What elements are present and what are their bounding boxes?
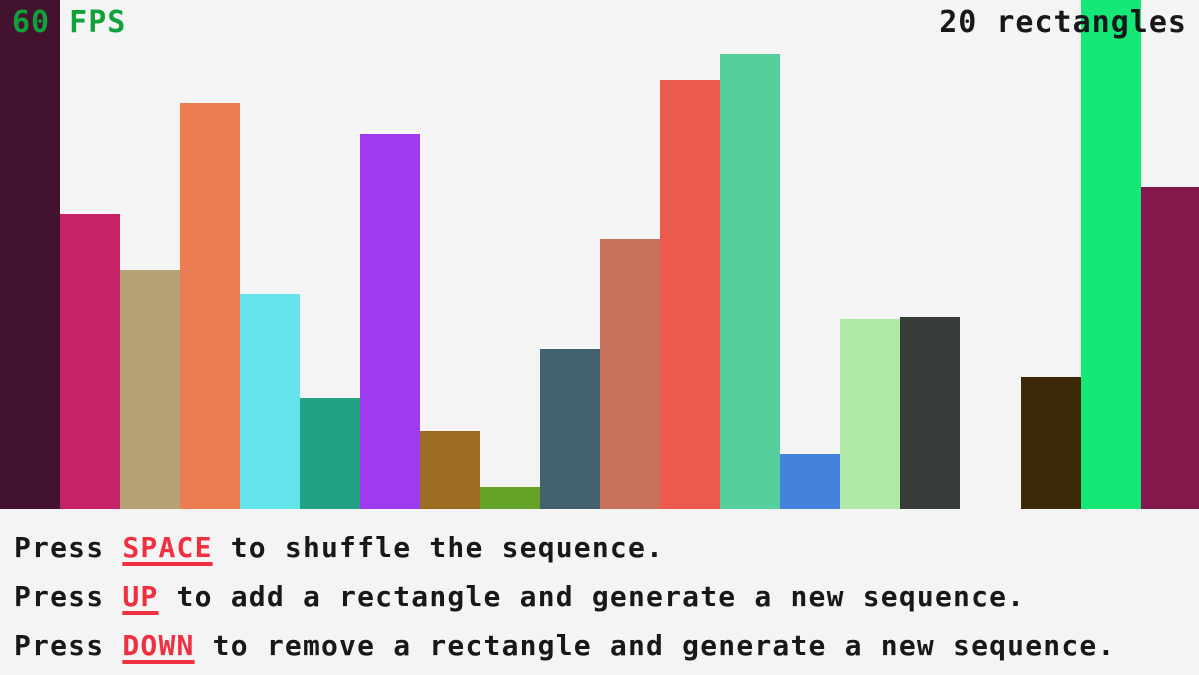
bar-8 [420,431,480,509]
bar-20 [1141,187,1199,509]
bar-17 [960,160,1020,509]
fps-counter: 60 FPS [12,6,126,40]
instruction-prefix: Press [14,580,122,613]
bar-11 [600,239,660,509]
bar-4 [180,103,240,509]
rectangle-count-label: 20 rectangles [939,6,1187,40]
instruction-line-2: Press UP to add a rectangle and generate… [14,572,1199,621]
bar-19 [1081,0,1141,509]
bar-9 [480,487,540,509]
bar-7 [360,134,420,509]
bar-12 [660,80,720,509]
instruction-prefix: Press [14,531,122,564]
bar-6 [300,398,360,509]
instruction-suffix: to remove a rectangle and generate a new… [195,629,1116,662]
key-hint-space[interactable]: SPACE [122,531,212,564]
bar-18 [1021,377,1081,509]
instruction-line-3: Press DOWN to remove a rectangle and gen… [14,621,1199,670]
instruction-suffix: to shuffle the sequence. [213,531,664,564]
bar-15 [840,319,900,509]
bar-13 [720,54,780,509]
instructions-panel: Press SPACE to shuffle the sequence.Pres… [0,509,1199,675]
bar-1 [0,0,60,509]
instruction-prefix: Press [14,629,122,662]
bar-10 [540,349,600,509]
bar-5 [240,294,300,509]
key-hint-down[interactable]: DOWN [122,629,194,662]
bar-chart [0,0,1199,509]
bar-14 [780,454,840,509]
bar-2 [60,214,120,509]
bar-3 [120,270,180,509]
key-hint-up[interactable]: UP [122,580,158,613]
app-root: 60 FPS 20 rectangles Press SPACE to shuf… [0,0,1199,675]
bar-16 [900,317,960,509]
instruction-suffix: to add a rectangle and generate a new se… [158,580,1025,613]
instruction-line-1: Press SPACE to shuffle the sequence. [14,523,1199,572]
